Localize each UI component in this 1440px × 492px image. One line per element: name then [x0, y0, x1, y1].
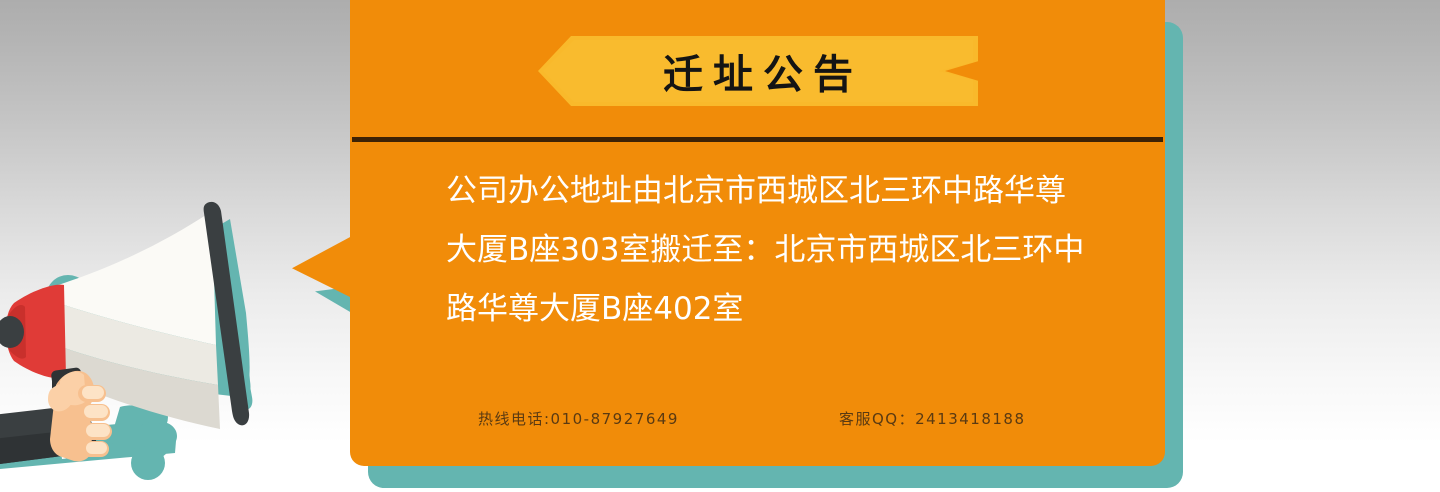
title-divider [352, 137, 1163, 142]
megaphone-in-hand-icon [0, 185, 300, 492]
customer-service-qq-text: 客服QQ：2413418188 [839, 408, 1026, 429]
hotline-phone-text: 热线电话:010-87927649 [478, 408, 679, 429]
announcement-banner-image: 迁址公告 公司办公地址由北京市西城区北三环中路华尊大厦B座303室搬迁至：北京市… [0, 0, 1440, 492]
contact-footer: 热线电话:010-87927649 客服QQ：2413418188 [446, 408, 1096, 429]
page-title: 迁址公告 [538, 36, 978, 106]
speech-bubble-tail [292, 236, 352, 298]
announcement-body-text: 公司办公地址由北京市西城区北三环中路华尊大厦B座303室搬迁至：北京市西城区北三… [446, 162, 1096, 339]
